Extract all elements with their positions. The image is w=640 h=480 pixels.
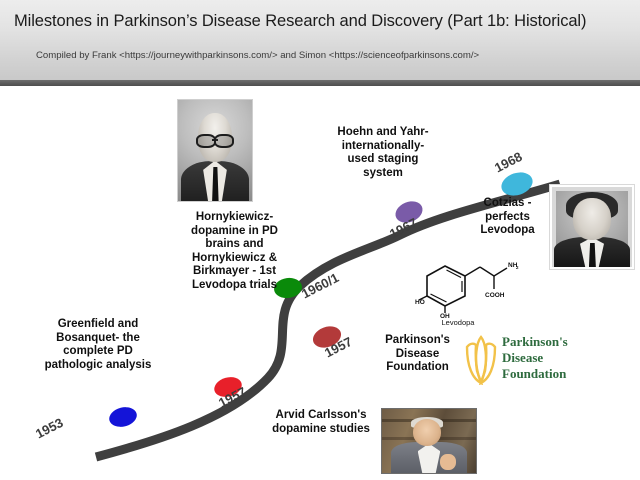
photo-cotzias bbox=[550, 185, 634, 269]
timeline-node-1953[interactable] bbox=[107, 404, 139, 429]
caption-greenfield: Greenfield and Bosanquet- the complete P… bbox=[18, 318, 178, 372]
levodopa-caption: Levodopa bbox=[403, 318, 513, 327]
photo-carlsson bbox=[381, 408, 477, 474]
caption-parkinsons-disease-foundation: Parkinson's Disease Foundation bbox=[370, 334, 465, 375]
tulip-icon bbox=[464, 333, 498, 385]
pdf-logo-line-2: Disease bbox=[502, 351, 543, 365]
timeline-node-1968[interactable] bbox=[498, 169, 535, 200]
caption-cotzias: Cotzias - perfects Levodopa bbox=[455, 197, 560, 238]
levodopa-structure: HO OH NH 2 COOH Levodopa bbox=[415, 256, 525, 332]
photo-hornykiewicz bbox=[177, 99, 253, 202]
caption-carlsson: Arvid Carlsson's dopamine studies bbox=[262, 409, 380, 436]
caption-hoehn-yahr: Hoehn and Yahr- internationally- used st… bbox=[318, 126, 448, 180]
levodopa-label-ho: HO bbox=[415, 299, 425, 306]
pdf-logo: Parkinson's Disease Foundation bbox=[464, 333, 576, 385]
caption-hornykiewicz: Hornykiewicz- dopamine in PD brains and … bbox=[157, 211, 312, 292]
levodopa-label-cooh: COOH bbox=[485, 292, 505, 299]
levodopa-skeleton: HO OH NH 2 COOH bbox=[415, 256, 525, 318]
pdf-logo-line-1: Parkinson's bbox=[502, 335, 568, 349]
timeline-nodes bbox=[0, 0, 640, 480]
pdf-logo-line-3: Foundation bbox=[502, 367, 566, 381]
levodopa-label-nh2-subscript: 2 bbox=[516, 265, 519, 270]
slide-canvas: Milestones in Parkinson’s Disease Resear… bbox=[0, 0, 640, 480]
